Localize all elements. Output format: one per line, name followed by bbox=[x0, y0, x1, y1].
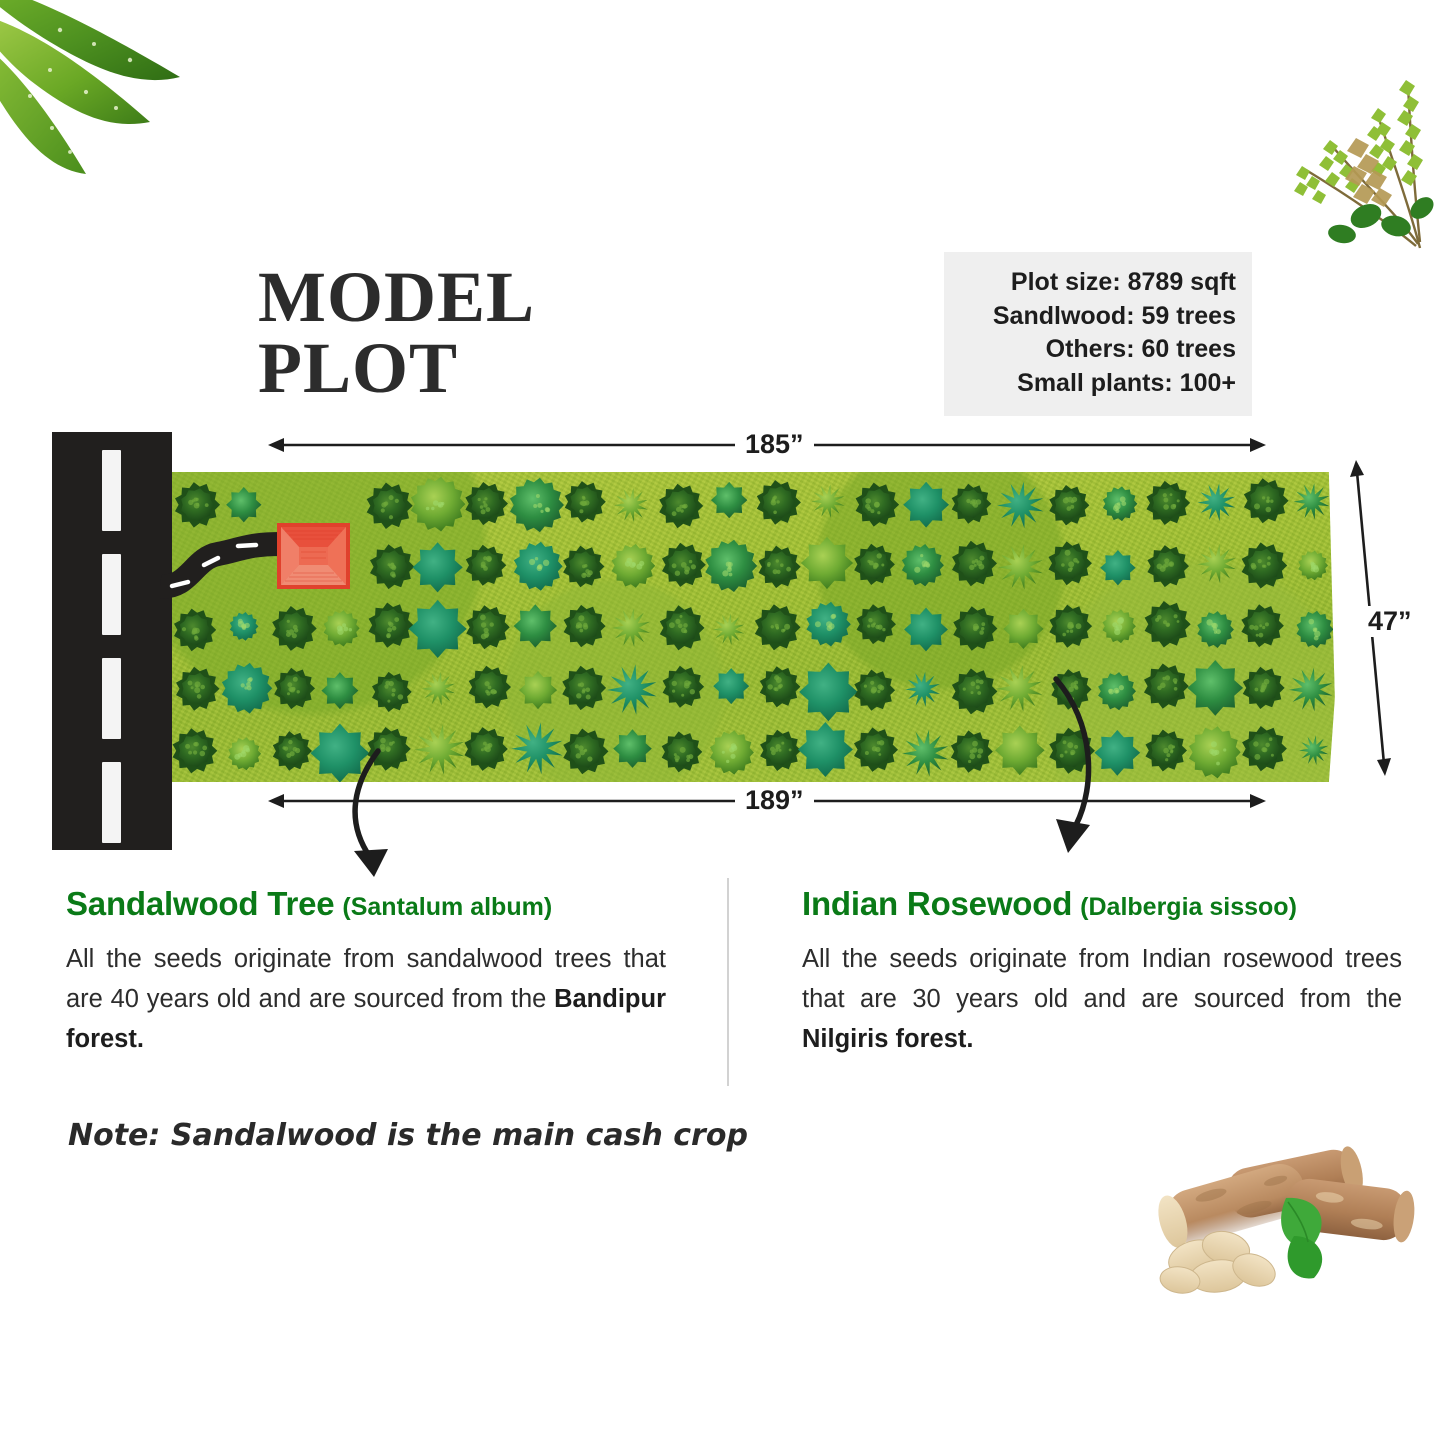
sandalwood-tree-icon bbox=[1147, 545, 1189, 587]
sandalwood-tree-icon bbox=[367, 483, 413, 530]
other-tree-icon bbox=[711, 482, 748, 518]
other-tree-icon bbox=[1003, 609, 1043, 649]
sandalwood-tree-icon bbox=[1049, 541, 1092, 585]
road-dash bbox=[102, 450, 121, 531]
other-tree-icon bbox=[612, 608, 650, 647]
sandalwood-tree-icon bbox=[760, 730, 801, 771]
infographic-canvas: MODEL PLOT Plot size: 8789 sqft Sandlwoo… bbox=[0, 0, 1440, 1440]
other-tree-icon bbox=[1294, 483, 1330, 519]
sandalwood-tree-icon bbox=[1241, 604, 1284, 647]
sandalwood-tree-icon bbox=[952, 668, 998, 714]
sandalwood-tree-icon bbox=[1242, 542, 1288, 588]
sandalwood-tree-icon bbox=[565, 481, 606, 522]
other-tree-icon bbox=[801, 537, 853, 589]
other-tree-icon bbox=[226, 487, 261, 522]
other-tree-icon bbox=[904, 608, 948, 652]
other-tree-icon bbox=[905, 672, 940, 707]
sandalwood-logs-decoration bbox=[1118, 1140, 1418, 1320]
other-tree-icon bbox=[1298, 551, 1328, 581]
sandalwood-tree-icon bbox=[1144, 664, 1189, 709]
stat-sandalwood-count: Sandlwood: 59 trees bbox=[956, 300, 1236, 334]
stat-small-plants-count: Small plants: 100+ bbox=[956, 367, 1236, 401]
species-body-rosewood: All the seeds originate from Indian rose… bbox=[802, 939, 1402, 1059]
other-tree-icon bbox=[713, 668, 749, 704]
other-tree-icon bbox=[324, 610, 360, 646]
other-tree-icon bbox=[413, 542, 463, 592]
title-line-1: MODEL bbox=[258, 257, 535, 337]
plot-stats-box: Plot size: 8789 sqft Sandlwood: 59 trees… bbox=[944, 252, 1252, 416]
road bbox=[52, 432, 172, 850]
road-dash bbox=[102, 658, 121, 739]
sandalwood-tree-icon bbox=[659, 484, 703, 529]
other-tree-icon bbox=[1299, 735, 1329, 765]
other-tree-icon bbox=[1289, 668, 1332, 712]
sandalwood-tree-icon bbox=[274, 668, 315, 709]
other-tree-icon bbox=[902, 730, 948, 777]
species-heading-rosewood: Indian Rosewood(Dalbergia sissoo) bbox=[802, 885, 1402, 923]
tree-plot-field bbox=[172, 472, 1337, 782]
sandalwood-tree-icon bbox=[563, 546, 604, 588]
other-tree-icon bbox=[902, 544, 944, 586]
sandalwood-tree-icon bbox=[273, 731, 312, 771]
other-tree-icon bbox=[713, 614, 744, 646]
other-tree-icon bbox=[1197, 611, 1234, 648]
sandalwood-tree-icon bbox=[854, 727, 898, 772]
sandalwood-tree-icon bbox=[272, 606, 317, 651]
sandalwood-tree-icon bbox=[854, 544, 895, 585]
species-name-sandalwood: Sandalwood Tree bbox=[66, 885, 334, 922]
other-tree-icon bbox=[321, 672, 358, 709]
species-card-sandalwood: Sandalwood Tree(Santalum album) All the … bbox=[66, 885, 666, 1059]
other-tree-icon bbox=[1100, 550, 1135, 585]
other-tree-icon bbox=[1198, 483, 1236, 521]
other-tree-icon bbox=[997, 482, 1043, 529]
sandalwood-tree-icon bbox=[1049, 485, 1089, 526]
species-latin-sandalwood: (Santalum album) bbox=[342, 893, 552, 921]
stat-others-count: Others: 60 trees bbox=[956, 333, 1236, 367]
sandalwood-tree-icon bbox=[1244, 478, 1289, 523]
other-tree-icon bbox=[998, 544, 1043, 589]
sandalwood-tree-icon bbox=[562, 666, 606, 710]
other-tree-icon bbox=[1198, 545, 1236, 584]
sandalwood-tree-icon bbox=[466, 605, 510, 649]
other-tree-icon bbox=[612, 544, 656, 588]
callout-arrow-rosewood bbox=[1020, 665, 1150, 865]
sandalwood-tree-icon bbox=[662, 731, 703, 772]
sandalwood-tree-icon bbox=[952, 541, 997, 587]
sandalwood-tree-icon bbox=[465, 727, 508, 771]
sandalwood-tree-icon bbox=[759, 546, 801, 589]
sandalwood-tree-icon bbox=[953, 606, 997, 651]
sandalwood-tree-icon bbox=[370, 544, 414, 589]
sandalwood-tree-icon bbox=[372, 672, 412, 712]
species-body-text-2: All the seeds originate from Indian rose… bbox=[802, 945, 1402, 1013]
other-tree-icon bbox=[514, 604, 557, 647]
plot-map bbox=[0, 410, 1440, 850]
sandalwood-tree-icon bbox=[1049, 605, 1092, 648]
sandalwood-tree-icon bbox=[563, 729, 608, 775]
species-card-rosewood: Indian Rosewood(Dalbergia sissoo) All th… bbox=[802, 885, 1402, 1059]
other-tree-icon bbox=[614, 488, 648, 522]
other-tree-icon bbox=[710, 730, 754, 774]
road-dash bbox=[102, 554, 121, 635]
stat-plot-size: Plot size: 8789 sqft bbox=[956, 266, 1236, 300]
house bbox=[276, 522, 351, 590]
sandalwood-tree-icon bbox=[564, 605, 606, 647]
road-dash bbox=[102, 762, 121, 843]
other-tree-icon bbox=[222, 663, 272, 714]
aloe-leaf-decoration bbox=[0, 0, 220, 192]
species-source-rosewood: Nilgiris forest. bbox=[802, 1025, 973, 1053]
dimension-label-bottom: 189” bbox=[735, 785, 814, 816]
species-body-sandalwood: All the seeds originate from sandalwood … bbox=[66, 939, 666, 1059]
dimension-label-right: 47” bbox=[1358, 606, 1422, 637]
sandalwood-tree-icon bbox=[854, 670, 895, 711]
other-tree-icon bbox=[1103, 609, 1136, 643]
other-tree-icon bbox=[228, 737, 261, 770]
sandalwood-tree-icon bbox=[174, 609, 216, 652]
sandalwood-tree-icon bbox=[663, 666, 705, 708]
other-tree-icon bbox=[519, 671, 557, 709]
sandalwood-tree-icon bbox=[1145, 601, 1191, 648]
other-tree-icon bbox=[613, 729, 652, 768]
sandalwood-tree-icon bbox=[952, 484, 992, 524]
sandalwood-tree-icon bbox=[662, 543, 706, 587]
other-tree-icon bbox=[1189, 726, 1241, 778]
sandalwood-tree-icon bbox=[465, 482, 508, 525]
callout-arrow-sandalwood bbox=[320, 745, 440, 885]
sandalwood-tree-icon bbox=[1146, 481, 1190, 525]
other-tree-icon bbox=[811, 484, 844, 518]
dimension-label-top: 185” bbox=[735, 429, 814, 460]
other-tree-icon bbox=[230, 612, 259, 641]
sandalwood-tree-icon bbox=[660, 605, 705, 650]
sandalwood-tree-icon bbox=[173, 728, 218, 773]
other-tree-icon bbox=[705, 540, 757, 592]
other-tree-icon bbox=[1103, 486, 1138, 521]
other-tree-icon bbox=[903, 482, 949, 528]
other-tree-icon bbox=[510, 478, 564, 533]
other-tree-icon bbox=[411, 477, 466, 532]
species-heading-sandalwood: Sandalwood Tree(Santalum album) bbox=[66, 885, 666, 923]
sandalwood-tree-icon bbox=[1243, 667, 1285, 709]
other-tree-icon bbox=[799, 663, 858, 722]
tulsi-plant-decoration bbox=[1270, 20, 1440, 250]
species-latin-rosewood: (Dalbergia sissoo) bbox=[1080, 893, 1297, 921]
other-tree-icon bbox=[1187, 660, 1243, 716]
sandalwood-tree-icon bbox=[856, 483, 900, 527]
sandalwood-tree-icon bbox=[755, 604, 801, 650]
sandalwood-tree-icon bbox=[469, 666, 511, 709]
page-title: MODEL PLOT bbox=[258, 262, 688, 403]
species-name-rosewood: Indian Rosewood bbox=[802, 885, 1072, 922]
sandalwood-tree-icon bbox=[1146, 730, 1188, 772]
other-tree-icon bbox=[807, 602, 851, 647]
sandalwood-tree-icon bbox=[857, 604, 897, 644]
sandalwood-tree-icon bbox=[760, 666, 801, 707]
tree-layer bbox=[172, 472, 1337, 782]
other-tree-icon bbox=[409, 600, 467, 658]
sandalwood-tree-icon bbox=[757, 480, 801, 525]
other-tree-icon bbox=[422, 672, 456, 706]
other-tree-icon bbox=[511, 723, 562, 775]
other-tree-icon bbox=[798, 722, 853, 777]
title-line-2: PLOT bbox=[258, 333, 688, 404]
note-text: Note: Sandalwood is the main cash crop bbox=[68, 1118, 748, 1153]
species-section: Sandalwood Tree(Santalum album) All the … bbox=[0, 885, 1440, 1115]
other-tree-icon bbox=[514, 542, 563, 591]
sandalwood-tree-icon bbox=[1242, 726, 1287, 771]
sandalwood-tree-icon bbox=[176, 667, 220, 711]
sandalwood-tree-icon bbox=[369, 603, 414, 648]
sandalwood-tree-icon bbox=[951, 730, 993, 772]
sandalwood-tree-icon bbox=[466, 545, 507, 586]
other-tree-icon bbox=[607, 664, 657, 714]
other-tree-icon bbox=[1297, 611, 1334, 648]
